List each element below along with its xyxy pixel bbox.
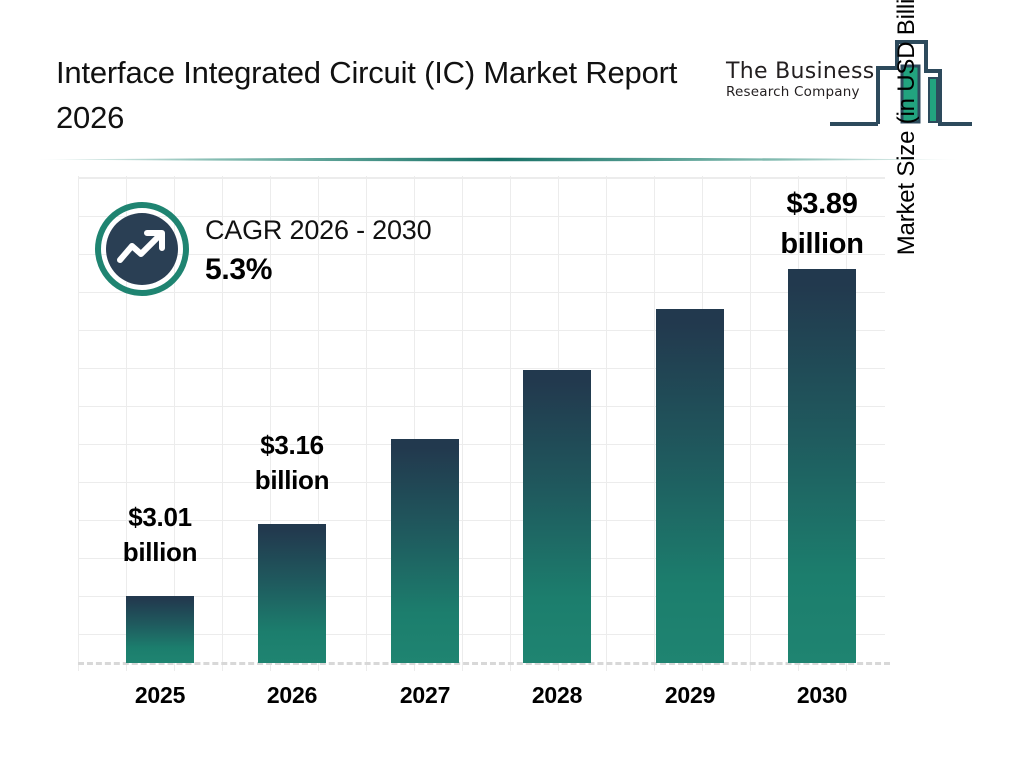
bar-value-label-2030-line1: $3.89 [742, 184, 902, 224]
chart-page: Interface Integrated Circuit (IC) Market… [0, 0, 1024, 768]
x-tick-2030: 2030 [762, 682, 882, 709]
bar-2025[interactable] [126, 596, 194, 663]
bar-value-label-2025: $3.01 billion [80, 500, 240, 570]
bar-2029[interactable] [656, 309, 724, 663]
x-tick-2028: 2028 [497, 682, 617, 709]
x-tick-2025: 2025 [100, 682, 220, 709]
bar-2027[interactable] [391, 439, 459, 663]
bar-2028[interactable] [523, 370, 591, 663]
y-axis-title: Market Size (in USD Billion) [893, 0, 925, 300]
bar-value-label-2026-line2: billion [212, 463, 372, 498]
bar-value-label-2026: $3.16 billion [212, 428, 372, 498]
bar-value-label-2030: $3.89 billion [742, 184, 902, 264]
bar-value-label-2026-line1: $3.16 [212, 428, 372, 463]
bar-2030[interactable] [788, 269, 856, 663]
bar-2026[interactable] [258, 524, 326, 663]
x-tick-2029: 2029 [630, 682, 750, 709]
cagr-badge: CAGR 2026 - 2030 5.3% [95, 202, 515, 312]
bar-value-label-2030-line2: billion [742, 224, 902, 264]
cagr-text: CAGR 2026 - 2030 5.3% [205, 212, 431, 292]
cagr-value: 5.3% [205, 248, 431, 292]
bar-value-label-2025-line2: billion [80, 535, 240, 570]
trending-up-icon [95, 202, 189, 296]
x-tick-2026: 2026 [232, 682, 352, 709]
axis-baseline [78, 662, 890, 665]
bar-value-label-2025-line1: $3.01 [80, 500, 240, 535]
cagr-label: CAGR 2026 - 2030 [205, 212, 431, 248]
x-tick-2027: 2027 [365, 682, 485, 709]
